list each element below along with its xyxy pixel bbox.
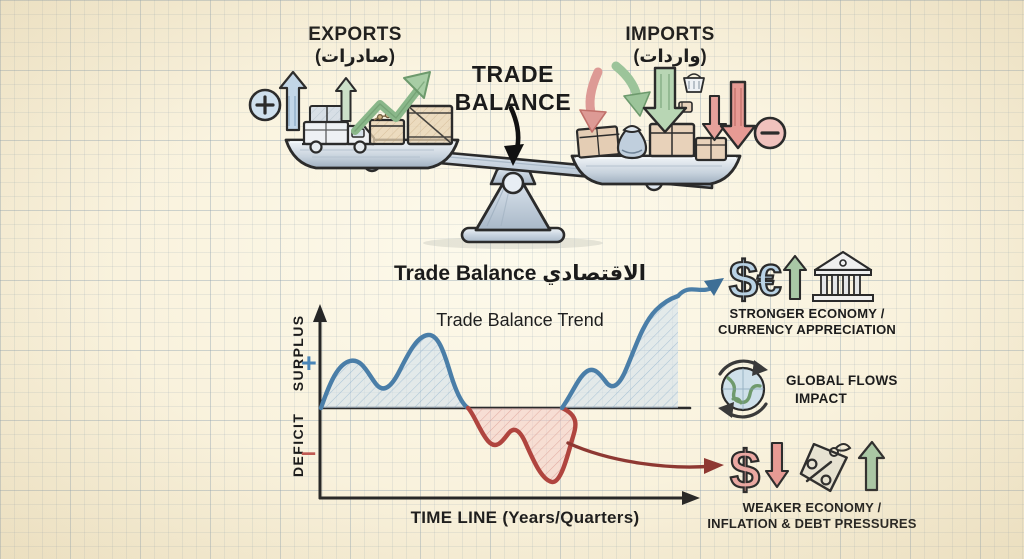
bank-building-icon — [813, 252, 873, 301]
callout-global-flows-line1: GLOBAL FLOWS — [786, 373, 926, 390]
imports-label: IMPORTS — [600, 24, 740, 45]
callout-weaker-economy-line1: WEAKER ECONOMY / — [700, 500, 924, 516]
infographic-canvas: $ € — [0, 0, 1024, 559]
basket-icon — [684, 74, 704, 92]
callout-stronger-economy-line2: CURRENCY APPRECIATION — [702, 322, 912, 338]
dollar-sign-icon: $ — [729, 251, 758, 309]
curved-arrow-red-icon — [580, 72, 606, 132]
svg-text:$: $ — [729, 251, 758, 309]
exports-label-arabic: (صادرات) — [295, 46, 415, 66]
down-arrow-green-icon — [644, 68, 686, 132]
carton-box-icon — [650, 124, 694, 156]
up-arrow-blue-icon — [280, 72, 306, 130]
up-arrow-green-icon — [859, 442, 884, 490]
dollar-sign-red-icon: $ — [730, 440, 760, 500]
imports-label-arabic: (واردات) — [600, 46, 740, 66]
exports-label: EXPORTS — [295, 24, 415, 45]
up-arrow-green-icon — [784, 256, 806, 299]
surplus-area-left — [321, 335, 468, 408]
svg-text:€: € — [757, 256, 781, 305]
down-arrow-red-icon — [703, 96, 726, 140]
trade-balance-label: TRADE BALANCE — [443, 60, 583, 116]
x-axis-arrowhead — [682, 491, 700, 505]
carton-box-icon — [577, 126, 620, 157]
carton-box-icon — [696, 138, 726, 160]
price-tag-percent-icon — [796, 439, 852, 496]
minus-badge-icon — [755, 118, 785, 148]
plus-badge-icon — [250, 90, 280, 120]
chart-title: Trade Balance الاقتصادي — [310, 262, 730, 286]
callout-stronger-economy-line1: STRONGER ECONOMY / — [702, 306, 912, 322]
callout-global-flows-line2: IMPACT — [795, 391, 935, 408]
surplus-plus-sign: + — [301, 348, 317, 378]
svg-text:$: $ — [730, 440, 760, 500]
x-axis-label: TIME LINE (Years/Quarters) — [345, 508, 705, 527]
trend-down-arrow-icon — [568, 443, 724, 474]
down-arrow-red-icon — [766, 443, 788, 487]
chart-subtitle: Trade Balance Trend — [310, 310, 730, 330]
callout-weaker-economy-line2: INFLATION & DEBT PRESSURES — [700, 516, 924, 532]
sack-icon — [618, 126, 646, 158]
euro-sign-icon: € — [757, 256, 781, 305]
deficit-minus-sign: – — [301, 437, 316, 467]
deficit-area — [468, 408, 575, 482]
globe-icon — [722, 368, 764, 410]
